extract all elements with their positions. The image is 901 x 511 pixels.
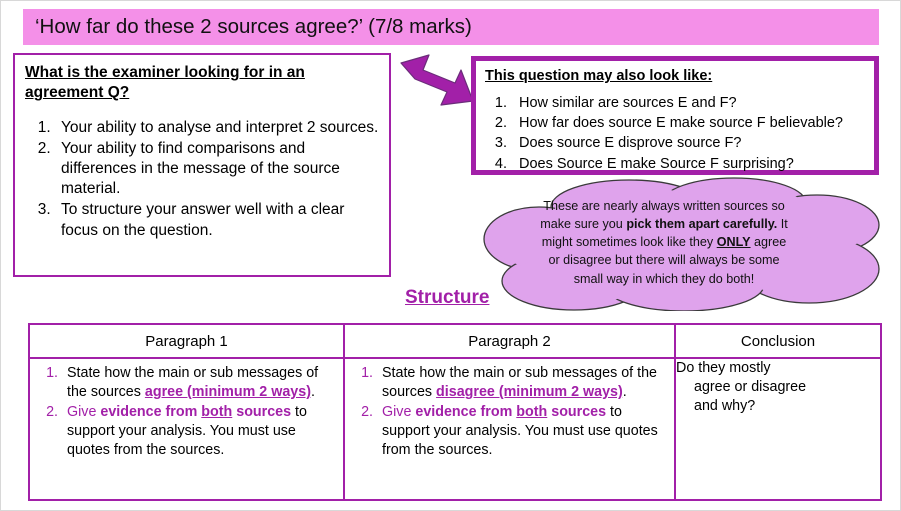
p1-both-emphasis: both <box>201 404 232 420</box>
structure-table: Paragraph 1 Paragraph 2 Conclusion State… <box>28 323 882 501</box>
p1-agree-emphasis: agree (minimum 2 ways) <box>145 384 311 400</box>
cloud-line-6: they do both! <box>681 272 754 286</box>
cloud-line-4-pre: they <box>689 235 716 249</box>
column-header-paragraph-2: Paragraph 2 <box>344 324 675 358</box>
p2-evidence-emphasis-c: sources <box>547 404 606 420</box>
list-item: How similar are sources E and F? <box>511 93 866 113</box>
paragraph-1-list: State how the main or sub messages of th… <box>30 359 343 460</box>
cloud-line-3-bold: carefully. <box>723 217 777 231</box>
slide-canvas: ‘How far do these 2 sources agree?’ (7/8… <box>0 0 901 511</box>
alt-question-list: How similar are sources E and F? How far… <box>485 93 866 174</box>
cloud-line-1: These are nearly always written sources <box>543 199 768 213</box>
cloud-callout: These are nearly always written sources … <box>479 177 893 311</box>
list-item: State how the main or sub messages of th… <box>62 364 337 402</box>
examiner-criteria-list: Your ability to analyse and interpret 2 … <box>25 118 379 241</box>
list-item: Your ability to find comparisons and dif… <box>55 139 379 199</box>
examiner-box-heading: What is the examiner looking for in an a… <box>25 63 379 104</box>
cell-conclusion: Do they mostly agree or disagree and why… <box>675 358 881 500</box>
examiner-criteria-box: What is the examiner looking for in an a… <box>13 53 391 277</box>
conclusion-line-1: Do they mostly <box>676 360 771 376</box>
cloud-callout-text: These are nearly always written sources … <box>535 197 793 288</box>
table-header-row: Paragraph 1 Paragraph 2 Conclusion <box>29 324 881 358</box>
column-header-conclusion: Conclusion <box>675 324 881 358</box>
alt-question-heading: This question may also look like: <box>485 67 866 86</box>
list-item: Give evidence from both sources to suppo… <box>62 403 337 460</box>
table-row: State how the main or sub messages of th… <box>29 358 881 500</box>
p2-both-emphasis: both <box>516 404 547 420</box>
down-right-arrow-icon <box>399 53 479 115</box>
list-item: How far does source E make source F beli… <box>511 113 866 133</box>
p1-item1-post: . <box>311 384 315 400</box>
p1-evidence-emphasis-a: evidence from <box>100 404 201 420</box>
p2-disagree-emphasis: disagree (minimum 2 ways) <box>436 384 623 400</box>
title-banner: ‘How far do these 2 sources agree?’ (7/8… <box>23 9 879 45</box>
conclusion-line-3: and why? <box>676 397 880 416</box>
p1-item2-lead: Give <box>67 404 100 420</box>
cell-paragraph-1: State how the main or sub messages of th… <box>29 358 344 500</box>
column-header-paragraph-1: Paragraph 1 <box>29 324 344 358</box>
page-title: ‘How far do these 2 sources agree?’ (7/8… <box>35 17 472 38</box>
p2-item1-post: . <box>623 384 627 400</box>
cloud-line-2-bold: pick them apart <box>626 217 719 231</box>
list-item: Your ability to analyse and interpret 2 … <box>55 118 379 138</box>
list-item: State how the main or sub messages of th… <box>377 364 668 402</box>
p1-evidence-emphasis-c: sources <box>232 404 291 420</box>
list-item: Does Source E make Source F surprising? <box>511 154 866 174</box>
p2-item2-lead: Give <box>382 404 415 420</box>
list-item: Does source E disprove source F? <box>511 133 866 153</box>
list-item: To structure your answer well with a cle… <box>55 200 379 240</box>
structure-heading: Structure <box>405 288 489 307</box>
alternative-question-box: This question may also look like: How si… <box>471 56 879 175</box>
cloud-only-emphasis: ONLY <box>717 235 751 249</box>
list-item: Give evidence from both sources to suppo… <box>377 403 668 460</box>
conclusion-line-2: agree or disagree <box>676 378 880 397</box>
p2-evidence-emphasis-a: evidence from <box>415 404 516 420</box>
cell-paragraph-2: State how the main or sub messages of th… <box>344 358 675 500</box>
paragraph-2-list: State how the main or sub messages of th… <box>345 359 674 460</box>
